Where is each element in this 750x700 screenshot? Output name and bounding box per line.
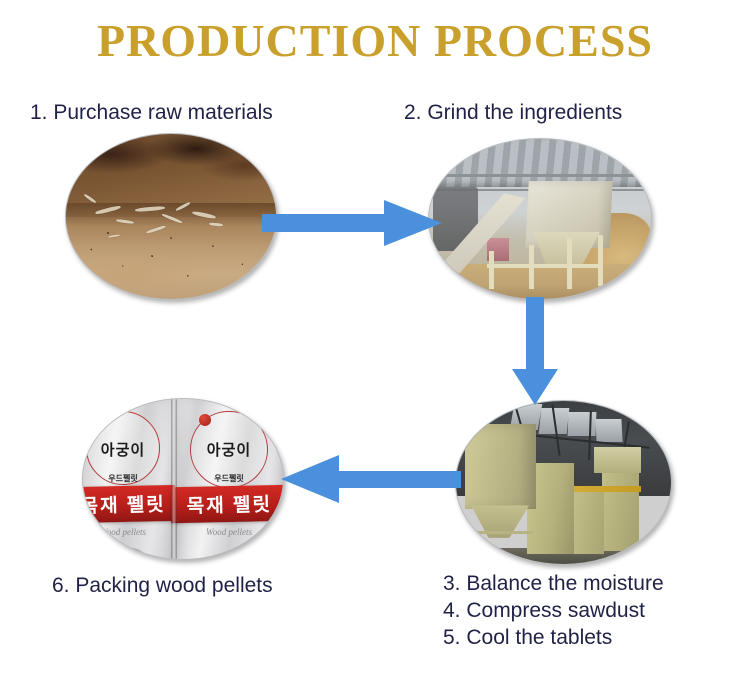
production-process-diagram: PRODUCTION PROCESS 1. Purchase raw mater… <box>0 0 750 700</box>
step-2-image-grinder <box>428 138 652 300</box>
bag-brand-text: 아궁이 <box>175 439 283 460</box>
steps-3-4-5-image-pellet-mill <box>455 400 672 565</box>
step-1-label: 1. Purchase raw materials <box>30 99 273 126</box>
bag-brand-text: 아궁이 <box>82 439 175 460</box>
step-2-label: 2. Grind the ingredients <box>404 99 622 126</box>
bag-weight-label: 15kg <box>100 547 146 560</box>
bag-band-text: 목재 펠릿 <box>170 489 284 518</box>
arrow-step1-to-step2 <box>262 200 442 246</box>
bag-band-text: 목재 펠릿 <box>82 489 179 518</box>
bag-script-text: Wood pellets <box>82 527 175 537</box>
pellet-bag-right: 아궁이 우드펠릿 목재 펠릿 Wood pellets <box>175 398 283 560</box>
step-3-label: 3. Balance the moisture <box>443 570 664 597</box>
arrow-step3-to-step6 <box>281 455 461 503</box>
pellet-bag-left: 아궁이 우드펠릿 목재 펠릿 Wood pellets 15kg <box>82 398 175 560</box>
page-title: PRODUCTION PROCESS <box>0 14 750 67</box>
bag-brand-subtext: 우드펠릿 <box>82 473 175 484</box>
arrow-left-icon <box>281 455 461 503</box>
step-6-label: 6. Packing wood pellets <box>52 572 273 599</box>
arrow-step2-to-step3 <box>512 297 558 405</box>
step-1-image-raw-materials <box>65 133 277 300</box>
steps-3-4-5-label-group: 3. Balance the moisture 4. Compress sawd… <box>443 570 664 651</box>
arrow-down-icon <box>512 297 558 405</box>
step-6-image-wood-pellet-bags: 아궁이 우드펠릿 목재 펠릿 Wood pellets 15kg 아궁이 우드펠… <box>82 398 284 560</box>
step-4-label: 4. Compress sawdust <box>443 597 664 624</box>
bag-brand-subtext: 우드펠릿 <box>175 473 283 484</box>
bag-script-text: Wood pellets <box>175 527 283 537</box>
arrow-right-icon <box>262 200 442 246</box>
step-5-label: 5. Cool the tablets <box>443 624 664 651</box>
